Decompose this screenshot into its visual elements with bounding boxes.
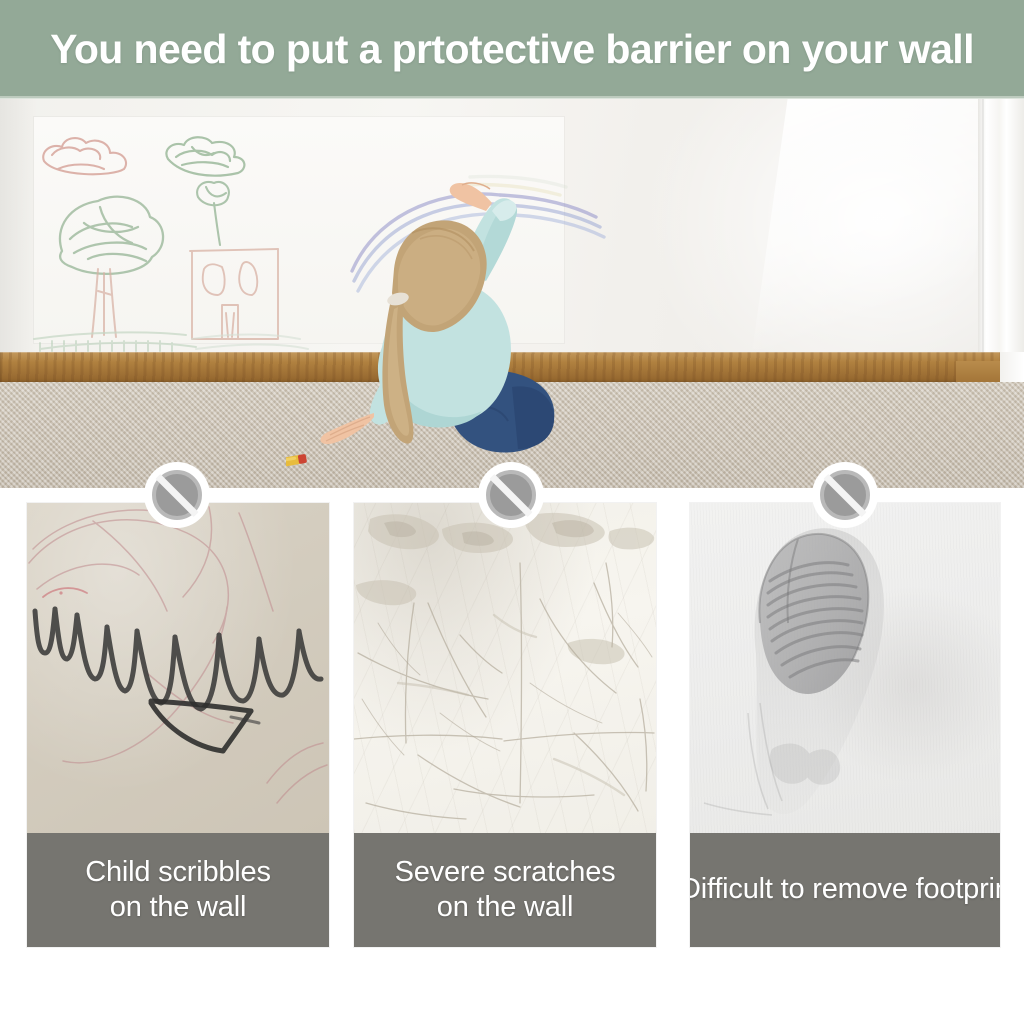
prohibition-icon-2 — [478, 462, 544, 528]
wall-scribbles-photo — [27, 503, 329, 833]
prohibition-icon-ring — [152, 470, 202, 520]
panel-caption-wrap: Difficult to remove footprints — [690, 872, 1000, 907]
scribbles-marks — [27, 503, 329, 833]
panel-caption-scribbles: Child scribbles on the wall — [27, 833, 329, 947]
panel-caption-text: Severe scratches on the wall — [395, 855, 616, 926]
panel-scratches: Severe scratches on the wall — [354, 503, 656, 947]
page-title: You need to put a prtotective barrier on… — [50, 26, 974, 73]
prohibition-icon-ring — [486, 470, 536, 520]
prohibition-icon-3 — [812, 462, 878, 528]
poster-canvas: You need to put a prtotective barrier on… — [0, 0, 1024, 1024]
footprint-mark — [690, 503, 1000, 833]
header-banner: You need to put a prtotective barrier on… — [0, 0, 1024, 98]
panel-caption-text: Child scribbles on the wall — [85, 855, 271, 926]
child-figure — [286, 159, 586, 488]
scratch-marks — [354, 503, 656, 833]
panel-scribbles: Child scribbles on the wall — [27, 503, 329, 947]
prohibition-icon-ring — [820, 470, 870, 520]
wall-scratches-photo — [354, 503, 656, 833]
wall-footprint-photo — [690, 503, 1000, 833]
panel-footprints: Difficult to remove footprints — [690, 503, 1000, 947]
hero-photo — [0, 99, 1024, 488]
prohibition-icon-1 — [144, 462, 210, 528]
panel-caption-footprints: Difficult to remove footprints — [690, 833, 1000, 947]
panel-caption-text: Difficult to remove footprints — [690, 873, 1000, 905]
panel-caption-scratches: Severe scratches on the wall — [354, 833, 656, 947]
